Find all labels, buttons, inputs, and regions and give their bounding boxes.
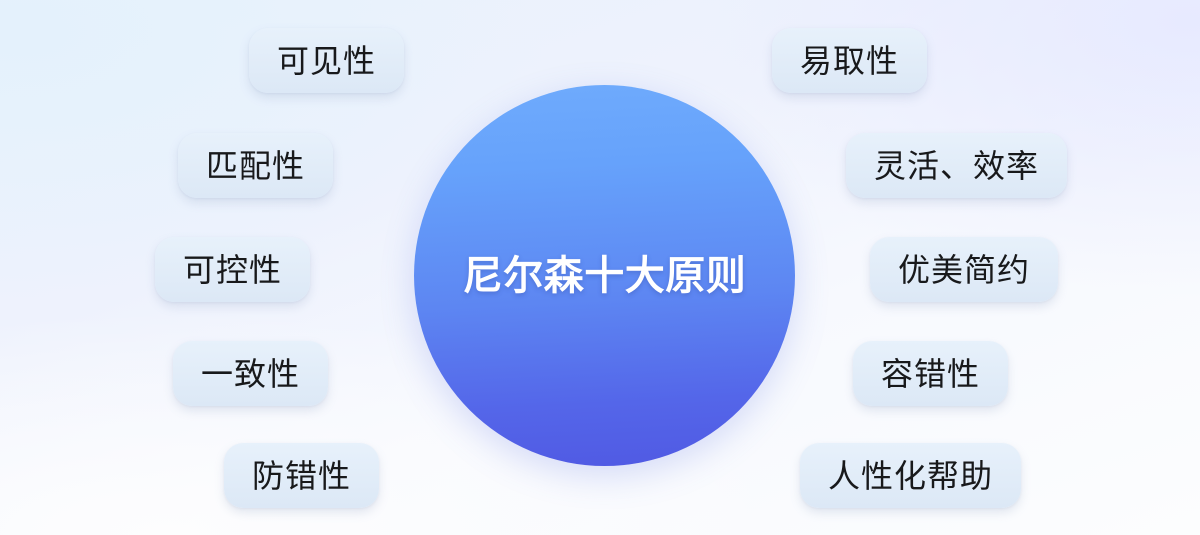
principle-pill-match[interactable]: 匹配性 xyxy=(178,133,333,198)
principle-label: 匹配性 xyxy=(206,150,305,182)
principle-pill-error-recovery[interactable]: 容错性 xyxy=(853,341,1008,406)
principle-pill-control[interactable]: 可控性 xyxy=(155,237,310,302)
principle-label: 优美简约 xyxy=(898,254,1030,286)
principle-pill-consistency[interactable]: 一致性 xyxy=(173,341,328,406)
principle-label: 易取性 xyxy=(800,45,899,77)
principle-pill-aesthetic-minimalist[interactable]: 优美简约 xyxy=(870,237,1058,302)
nielsen-heuristics-diagram: 尼尔森十大原则 可见性 匹配性 可控性 一致性 防错性 易取性 灵活、效率 优美… xyxy=(0,0,1200,535)
principle-label: 人性化帮助 xyxy=(828,460,993,492)
center-circle-title: 尼尔森十大原则 xyxy=(463,256,747,296)
principle-pill-recognition[interactable]: 易取性 xyxy=(772,28,927,93)
principle-label: 可控性 xyxy=(183,254,282,286)
principle-label: 容错性 xyxy=(881,358,980,390)
principle-pill-flexibility-efficiency[interactable]: 灵活、效率 xyxy=(846,133,1067,198)
principle-pill-visibility[interactable]: 可见性 xyxy=(249,28,404,93)
principle-label: 一致性 xyxy=(201,358,300,390)
principle-pill-help-documentation[interactable]: 人性化帮助 xyxy=(800,443,1021,508)
principle-pill-error-prevention[interactable]: 防错性 xyxy=(224,443,379,508)
principle-label: 灵活、效率 xyxy=(874,150,1039,182)
principle-label: 防错性 xyxy=(252,460,351,492)
principle-label: 可见性 xyxy=(277,45,376,77)
center-circle: 尼尔森十大原则 xyxy=(414,85,795,466)
